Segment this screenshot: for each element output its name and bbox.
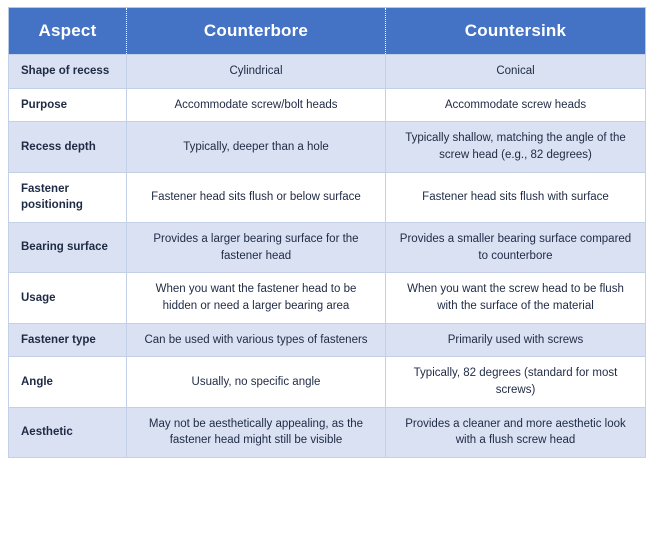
table-row: Purpose Accommodate screw/bolt heads Acc…: [9, 88, 646, 122]
cell-aspect: Fastener positioning: [9, 172, 127, 222]
column-header-counterbore: Counterbore: [127, 8, 386, 55]
cell-countersink: Typically, 82 degrees (standard for most…: [386, 357, 646, 407]
cell-aspect: Angle: [9, 357, 127, 407]
comparison-table: Aspect Counterbore Countersink Shape of …: [8, 7, 646, 458]
cell-aspect: Bearing surface: [9, 223, 127, 273]
cell-counterbore: Typically, deeper than a hole: [127, 122, 386, 172]
comparison-table-container: Aspect Counterbore Countersink Shape of …: [8, 7, 645, 458]
cell-aspect: Usage: [9, 273, 127, 323]
cell-counterbore: Provides a larger bearing surface for th…: [127, 223, 386, 273]
table-body: Shape of recess Cylindrical Conical Purp…: [9, 55, 646, 458]
table-row: Usage When you want the fastener head to…: [9, 273, 646, 323]
cell-counterbore: May not be aesthetically appealing, as t…: [127, 407, 386, 457]
cell-counterbore: When you want the fastener head to be hi…: [127, 273, 386, 323]
cell-aspect: Shape of recess: [9, 55, 127, 89]
table-header: Aspect Counterbore Countersink: [9, 8, 646, 55]
table-row: Bearing surface Provides a larger bearin…: [9, 223, 646, 273]
cell-countersink: Conical: [386, 55, 646, 89]
cell-countersink: Primarily used with screws: [386, 323, 646, 357]
cell-aspect: Recess depth: [9, 122, 127, 172]
cell-counterbore: Accommodate screw/bolt heads: [127, 88, 386, 122]
cell-countersink: Fastener head sits flush with surface: [386, 172, 646, 222]
table-row: Shape of recess Cylindrical Conical: [9, 55, 646, 89]
column-header-countersink: Countersink: [386, 8, 646, 55]
cell-counterbore: Can be used with various types of fasten…: [127, 323, 386, 357]
cell-counterbore: Usually, no specific angle: [127, 357, 386, 407]
table-row: Fastener positioning Fastener head sits …: [9, 172, 646, 222]
table-row: Fastener type Can be used with various t…: [9, 323, 646, 357]
table-row: Recess depth Typically, deeper than a ho…: [9, 122, 646, 172]
cell-countersink: Typically shallow, matching the angle of…: [386, 122, 646, 172]
cell-aspect: Aesthetic: [9, 407, 127, 457]
cell-countersink: When you want the screw head to be flush…: [386, 273, 646, 323]
table-row: Angle Usually, no specific angle Typical…: [9, 357, 646, 407]
cell-counterbore: Cylindrical: [127, 55, 386, 89]
cell-countersink: Accommodate screw heads: [386, 88, 646, 122]
cell-countersink: Provides a cleaner and more aesthetic lo…: [386, 407, 646, 457]
cell-aspect: Fastener type: [9, 323, 127, 357]
column-header-aspect: Aspect: [9, 8, 127, 55]
table-row: Aesthetic May not be aesthetically appea…: [9, 407, 646, 457]
cell-countersink: Provides a smaller bearing surface compa…: [386, 223, 646, 273]
cell-counterbore: Fastener head sits flush or below surfac…: [127, 172, 386, 222]
cell-aspect: Purpose: [9, 88, 127, 122]
header-row: Aspect Counterbore Countersink: [9, 8, 646, 55]
